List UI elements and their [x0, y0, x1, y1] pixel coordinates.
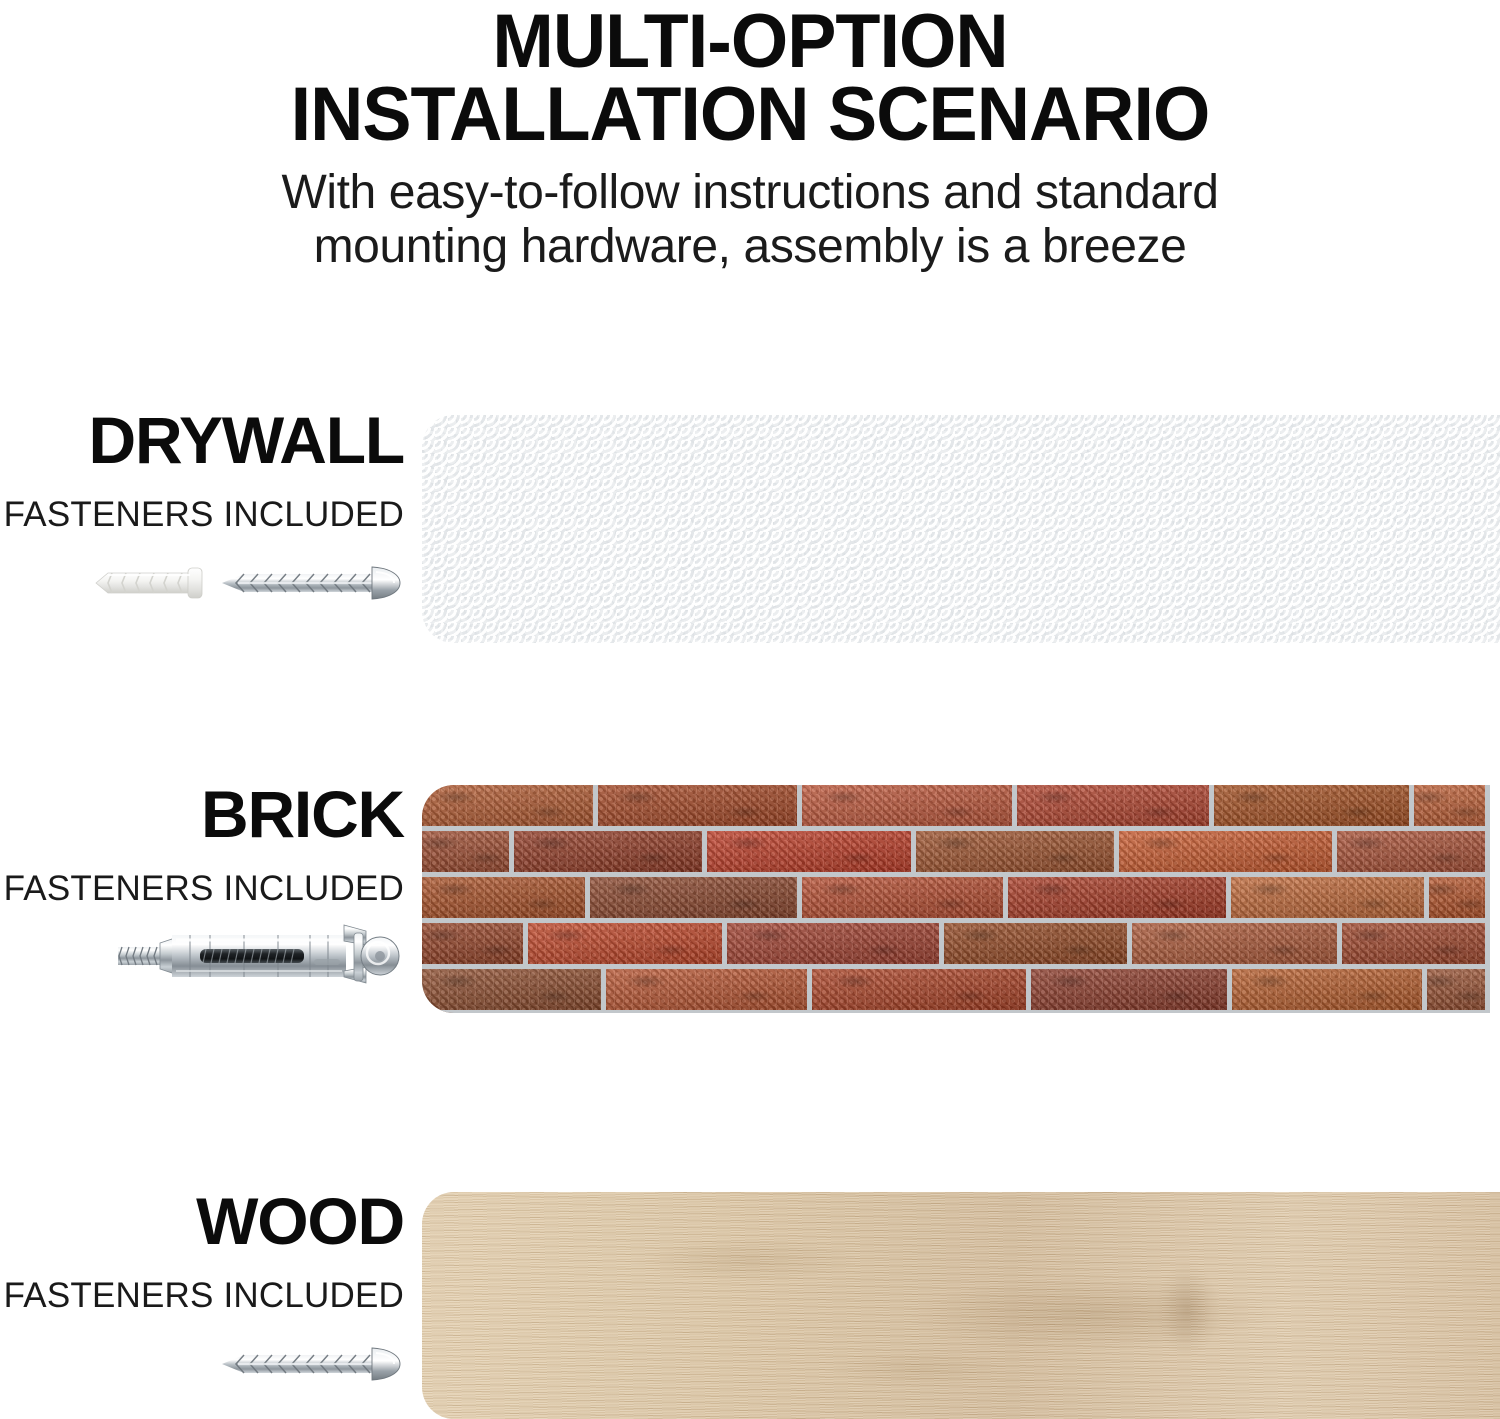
brick-fasteners-label: FASTENERS INCLUDED [0, 871, 404, 906]
brick-unit [707, 831, 916, 877]
brick-unit [802, 877, 1008, 923]
drywall-fasteners-label: FASTENERS INCLUDED [0, 497, 404, 532]
brick-unit [514, 831, 707, 877]
brick-title: BRICK [0, 781, 404, 847]
brick-surface-panel [422, 785, 1490, 1013]
brick-unit [1427, 969, 1490, 1013]
brick-unit [1414, 785, 1490, 831]
page-title: MULTI-OPTION INSTALLATION SCENARIO [168, 6, 1332, 152]
brick-unit [1008, 877, 1231, 923]
wood-surface-panel [422, 1192, 1500, 1419]
brick-wall-pattern [422, 785, 1490, 1013]
brick-unit [422, 785, 598, 831]
truss-head-screw-icon [218, 560, 404, 606]
brick-unit [528, 923, 727, 969]
brick-unit [1342, 923, 1490, 969]
wood-label-column: WOOD FASTENERS INCLUDED [0, 1188, 406, 1395]
truss-head-screw-icon [218, 1341, 404, 1387]
page-subtitle-line-2: mounting hardware, assembly is a breeze [85, 220, 1415, 274]
brick-unit [1119, 831, 1337, 877]
brick-unit [1337, 831, 1490, 877]
brick-fastener-row [0, 926, 404, 988]
brick-unit [802, 785, 1017, 831]
brick-course [422, 923, 1490, 969]
drywall-title: DRYWALL [0, 407, 404, 473]
brick-unit [1231, 877, 1429, 923]
brick-course [422, 877, 1490, 923]
plastic-wall-anchor-icon [88, 560, 210, 606]
brick-unit [606, 969, 812, 1013]
brick-unit [727, 923, 944, 969]
brick-unit [590, 877, 802, 923]
brick-unit [1214, 785, 1414, 831]
brick-unit [1232, 969, 1427, 1013]
wood-fasteners-label: FASTENERS INCLUDED [0, 1278, 404, 1313]
brick-unit [916, 831, 1119, 877]
metal-molly-hollow-wall-anchor-icon [114, 919, 404, 995]
brick-unit [1132, 923, 1342, 969]
section-drywall: DRYWALL FASTENERS INCLUDED [0, 407, 1500, 647]
brick-unit [422, 923, 528, 969]
brick-unit [1031, 969, 1232, 1013]
wood-title: WOOD [0, 1188, 404, 1254]
brick-unit [812, 969, 1031, 1013]
brick-label-column: BRICK FASTENERS INCLUDED [0, 781, 406, 988]
brick-unit [422, 831, 514, 877]
page-title-line-1: MULTI-OPTION [168, 6, 1332, 79]
brick-course [422, 831, 1490, 877]
brick-course [422, 969, 1490, 1013]
section-wood: WOOD FASTENERS INCLUDED [0, 1188, 1500, 1419]
page-title-line-2: INSTALLATION SCENARIO [168, 79, 1332, 152]
brick-unit [944, 923, 1132, 969]
brick-unit [422, 877, 590, 923]
brick-course [422, 785, 1490, 831]
brick-unit [598, 785, 802, 831]
page-subtitle: With easy-to-follow instructions and sta… [85, 166, 1415, 274]
page-subtitle-line-1: With easy-to-follow instructions and sta… [85, 166, 1415, 220]
drywall-surface-panel [422, 415, 1500, 643]
brick-unit [1017, 785, 1214, 831]
drywall-fastener-row [0, 552, 404, 614]
drywall-label-column: DRYWALL FASTENERS INCLUDED [0, 407, 406, 614]
brick-unit [422, 969, 606, 1013]
wood-fastener-row [0, 1333, 404, 1395]
section-brick: BRICK FASTENERS INCLUDED [0, 781, 1500, 1021]
brick-unit [1429, 877, 1490, 923]
header: MULTI-OPTION INSTALLATION SCENARIO With … [0, 0, 1500, 273]
